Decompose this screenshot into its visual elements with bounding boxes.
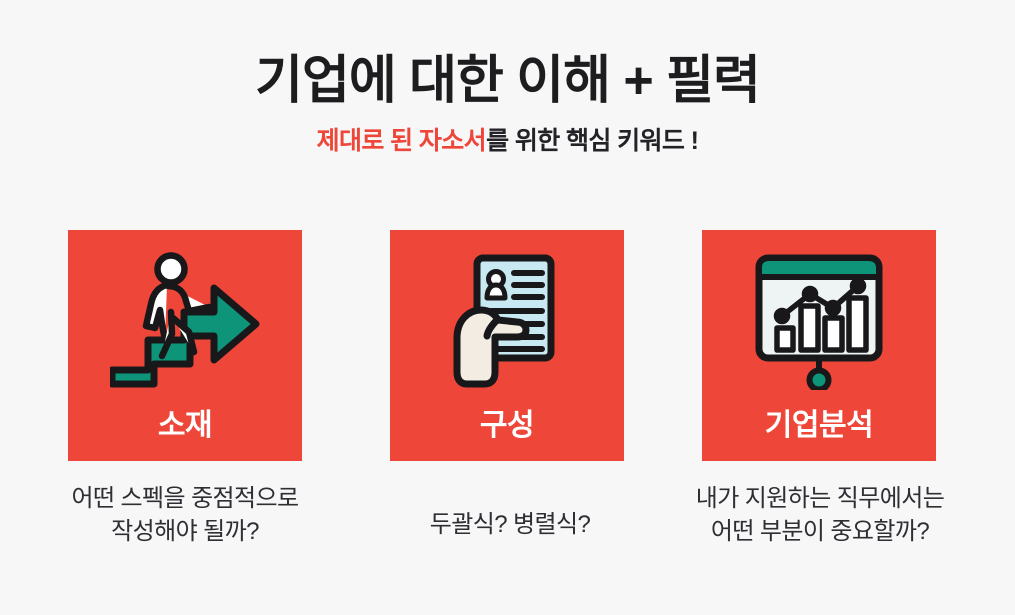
page-subtitle: 제대로 된 자소서를 위한 핵심 키워드 ! [0, 126, 1015, 156]
caption-gieopbunseok: 내가 지원하는 직무에서는 어떤 부분이 중요할까? [655, 482, 985, 548]
caption-sojae: 어떤 스펙을 중점적으로 작성해야 될까? [20, 482, 350, 548]
caption-row: 어떤 스펙을 중점적으로 작성해야 될까? 두괄식? 병렬식? 내가 지원하는 … [0, 482, 1015, 577]
card-row: 소재 [0, 230, 1015, 462]
card-gieopbunseok[interactable]: 기업분석 [702, 230, 936, 461]
subtitle-rest-text: 를 위한 핵심 키워드 ! [486, 127, 698, 155]
person-climbing-stairs-arrow-icon [110, 252, 260, 390]
presentation-bar-chart-icon [751, 252, 887, 390]
subtitle-accent-text: 제대로 된 자소서 [317, 127, 487, 155]
card-label-gieopbunseok: 기업분석 [702, 411, 936, 441]
card-label-sojae: 소재 [68, 411, 302, 441]
infographic-page: 기업에 대한 이해 + 필력 제대로 된 자소서를 위한 핵심 키워드 ! [0, 0, 1015, 615]
caption-line: 내가 지원하는 직무에서는 [655, 482, 985, 515]
card-sojae[interactable]: 소재 [68, 230, 302, 461]
header: 기업에 대한 이해 + 필력 제대로 된 자소서를 위한 핵심 키워드 ! [0, 52, 1015, 156]
caption-line: 두괄식? 병렬식? [345, 508, 675, 541]
caption-line: 작성해야 될까? [20, 515, 350, 548]
caption-line: 어떤 부분이 중요할까? [655, 515, 985, 548]
card-guseong[interactable]: 구성 [390, 230, 624, 461]
caption-line: 어떤 스펙을 중점적으로 [20, 482, 350, 515]
hand-holding-resume-icon [443, 252, 571, 390]
card-label-guseong: 구성 [390, 411, 624, 441]
caption-guseong: 두괄식? 병렬식? [345, 508, 675, 541]
page-title: 기업에 대한 이해 + 필력 [0, 52, 1015, 110]
